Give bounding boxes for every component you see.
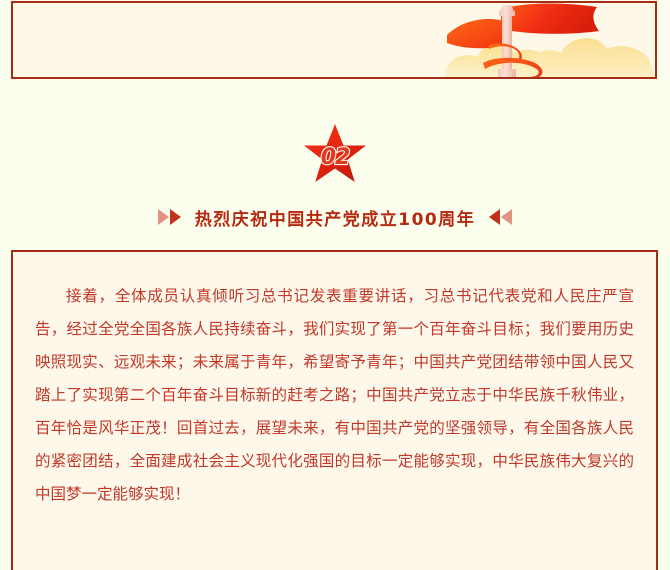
left-arrows	[158, 209, 181, 225]
triangle-left-dark-icon	[489, 209, 500, 225]
monument-and-red-flag-illustration	[405, 1, 655, 77]
body-paragraph: 接着，全体成员认真倾听习总书记发表重要讲话，习总书记代表党和人民庄严宣告，经过全…	[35, 280, 634, 511]
section-number-badge-wrap: 02	[0, 120, 670, 188]
triangle-right-light-icon	[158, 209, 169, 225]
triangle-right-dark-icon	[170, 209, 181, 225]
triangle-left-light-icon	[501, 209, 512, 225]
top-banner	[11, 1, 657, 79]
right-arrows	[489, 209, 512, 225]
content-panel: 接着，全体成员认真倾听习总书记发表重要讲话，习总书记代表党和人民庄严宣告，经过全…	[11, 250, 658, 570]
star-badge: 02	[302, 122, 368, 186]
section-title-row: 热烈庆祝中国共产党成立100周年	[0, 200, 670, 234]
page-title: 热烈庆祝中国共产党成立100周年	[195, 205, 476, 230]
section-number-text: 02	[302, 122, 368, 186]
red-flag-banner	[501, 4, 599, 34]
